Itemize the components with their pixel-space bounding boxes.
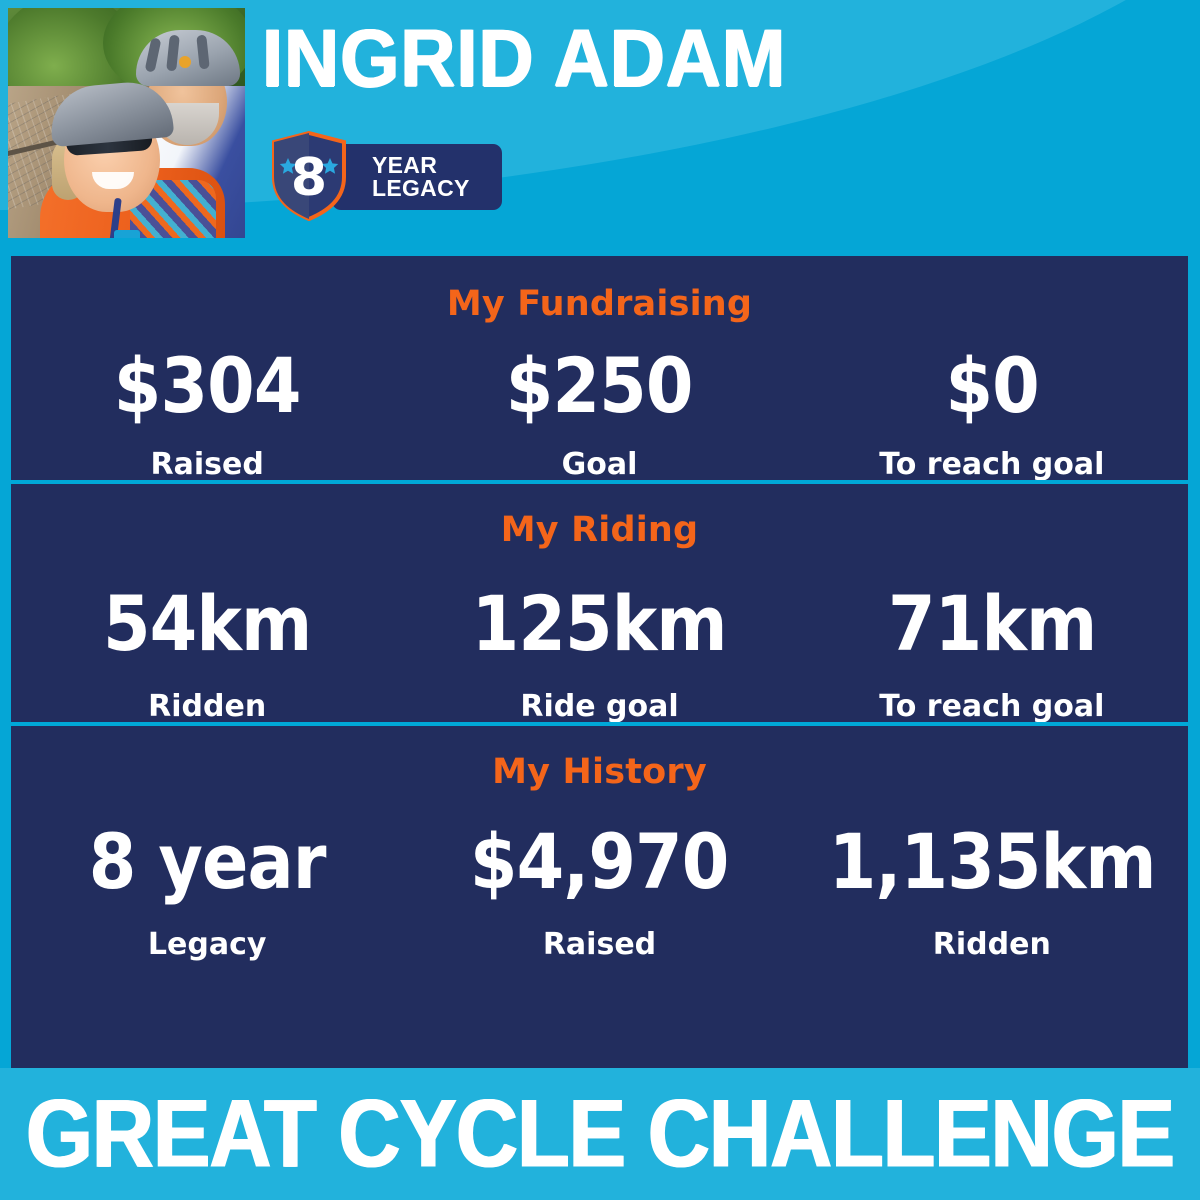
rider-photo [8,8,245,238]
legacy-badge-line2: LEGACY [372,177,502,200]
stat-total-ridden: 1,135km Ridden [796,824,1188,960]
stat-label: To reach goal [796,692,1188,722]
stat-total-raised: $4,970 Raised [403,824,795,960]
stat-label: Legacy [11,930,403,960]
stat-legacy: 8 year Legacy [11,824,403,960]
stat-value: $250 [423,348,776,424]
stat-label: Raised [403,930,795,960]
stat-label: Ride goal [403,692,795,722]
section-title-history: My History [11,726,1188,792]
stat-ride-to-reach-goal: 71km To reach goal [796,586,1188,722]
stat-ride-goal: 125km Ride goal [403,586,795,722]
stat-value: 125km [423,586,776,662]
stat-label: To reach goal [796,450,1188,480]
brand-wordmark: GREAT CYCLE CHALLENGE [26,1086,1174,1182]
photo-woman-badge [114,230,140,238]
stat-value: $4,970 [423,824,776,900]
legacy-badge-line1: YEAR [372,154,502,177]
stat-value: 1,135km [815,824,1168,900]
legacy-badge-plate: YEAR LEGACY [332,144,502,210]
stats-row-history: 8 year Legacy $4,970 Raised 1,135km Ridd… [11,824,1188,960]
stats-panel: My Fundraising $304 Raised $250 Goal $0 … [11,256,1188,1068]
section-title-fundraising: My Fundraising [11,256,1188,324]
stat-value: $0 [815,348,1168,424]
stat-value: 8 year [31,824,384,900]
stat-value: 54km [31,586,384,662]
header-banner: INGRID ADAM YEAR LEGACY 8 [0,0,1200,250]
stat-value: $304 [31,348,384,424]
stat-label: Goal [403,450,795,480]
shield-icon: 8 [270,131,348,221]
page-title: INGRID ADAM [262,18,786,100]
footer-brand-banner: GREAT CYCLE CHALLENGE [0,1068,1200,1200]
stat-label: Ridden [796,930,1188,960]
stat-goal: $250 Goal [403,348,795,480]
photo-man-helmet-logo [179,56,191,68]
stats-row-fundraising: $304 Raised $250 Goal $0 To reach goal [11,348,1188,480]
legacy-badge-years: 8 [291,148,327,208]
stat-value: 71km [815,586,1168,662]
stats-row-riding: 54km Ridden 125km Ride goal 71km To reac… [11,586,1188,722]
stat-label: Raised [11,450,403,480]
section-history: My History 8 year Legacy $4,970 Raised 1… [11,722,1188,960]
section-riding: My Riding 54km Ridden 125km Ride goal 71… [11,480,1188,722]
section-title-riding: My Riding [11,484,1188,550]
stat-to-reach-goal: $0 To reach goal [796,348,1188,480]
stat-ridden: 54km Ridden [11,586,403,722]
section-fundraising: My Fundraising $304 Raised $250 Goal $0 … [11,256,1188,480]
stat-label: Ridden [11,692,403,722]
stat-raised: $304 Raised [11,348,403,480]
